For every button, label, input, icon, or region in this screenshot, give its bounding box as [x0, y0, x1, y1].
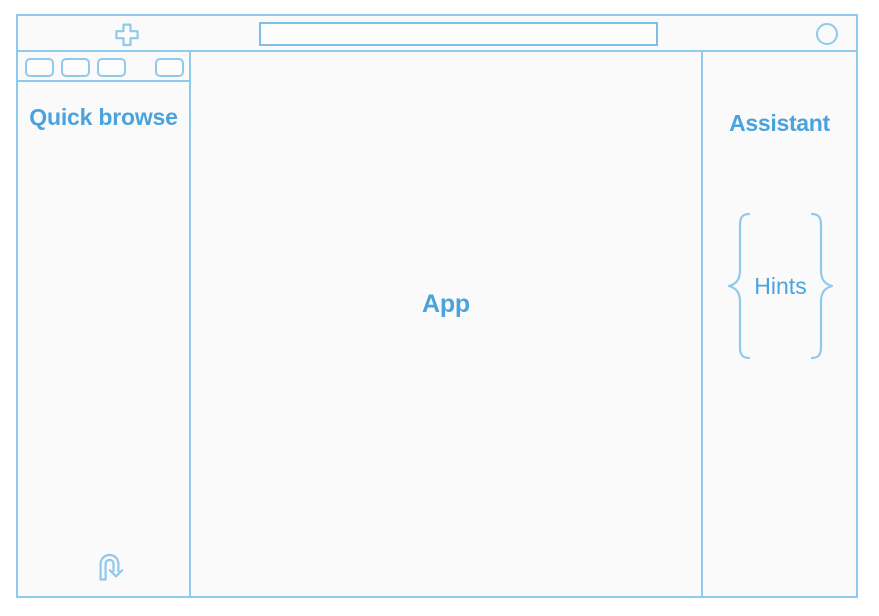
tab-chip-1[interactable]: [25, 58, 54, 77]
brace-left-icon: [726, 212, 752, 360]
sidebar-panel: Quick browse: [18, 52, 191, 596]
sidebar-tabbar: [18, 52, 189, 82]
undo-uturn-arrow-icon[interactable]: [94, 552, 128, 582]
assistant-title: Assistant: [703, 110, 856, 137]
tab-chip-4[interactable]: [155, 58, 184, 77]
brace-right-icon: [809, 212, 835, 360]
hints-label: Hints: [752, 273, 808, 300]
search-field[interactable]: [259, 22, 658, 46]
tab-chip-2[interactable]: [61, 58, 90, 77]
search-input[interactable]: [261, 24, 656, 44]
tab-chip-3[interactable]: [97, 58, 126, 77]
hints-block: Hints: [711, 212, 850, 360]
app-label: App: [191, 52, 701, 596]
sidebar-title: Quick browse: [18, 102, 189, 132]
window-body: Quick browse App Assistant Hints: [18, 52, 856, 596]
circle-avatar-icon[interactable]: [816, 23, 838, 45]
plus-icon[interactable]: [114, 23, 140, 47]
assistant-panel: Assistant Hints: [701, 52, 856, 596]
app-header: [18, 16, 856, 52]
app-content-area[interactable]: App: [191, 52, 701, 596]
wireframe-window: Quick browse App Assistant Hints: [16, 14, 858, 598]
